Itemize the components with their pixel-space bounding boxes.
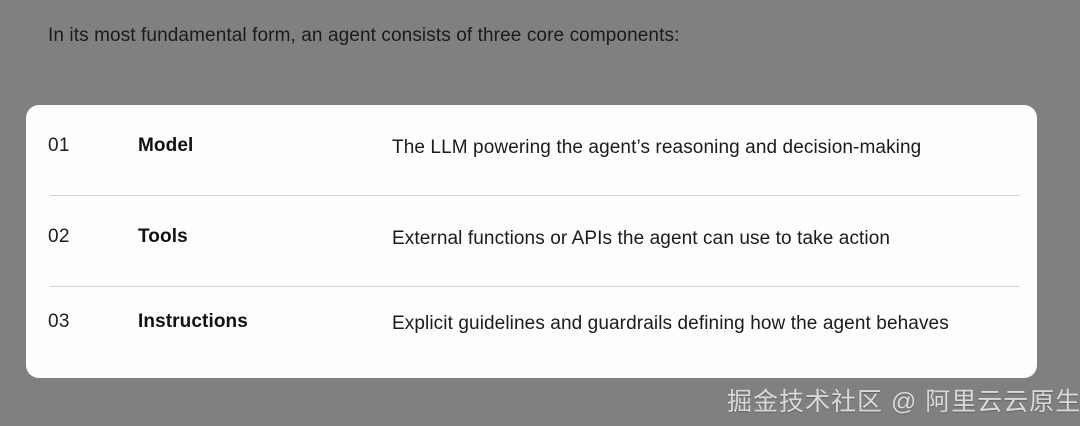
row-content: 01 Model The LLM powering the agent’s re… (48, 105, 1015, 163)
intro-paragraph: In its most fundamental form, an agent c… (48, 23, 679, 49)
row-description: The LLM powering the agent’s reasoning a… (392, 133, 1015, 163)
row-content: 03 Instructions Explicit guidelines and … (48, 287, 1015, 339)
row-description: External functions or APIs the agent can… (392, 224, 1015, 254)
row-number: 02 (48, 224, 138, 250)
row-number: 03 (48, 309, 138, 335)
row-content: 02 Tools External functions or APIs the … (48, 196, 1015, 254)
list-item: 03 Instructions Explicit guidelines and … (26, 287, 1037, 378)
components-card: 01 Model The LLM powering the agent’s re… (26, 105, 1037, 378)
row-description: Explicit guidelines and guardrails defin… (392, 309, 1015, 339)
row-number: 01 (48, 133, 138, 159)
row-title: Model (138, 133, 392, 159)
row-title: Instructions (138, 309, 392, 335)
list-item: 02 Tools External functions or APIs the … (26, 196, 1037, 287)
watermark: 掘金技术社区 @ 阿里云云原生 (727, 386, 1080, 419)
row-title: Tools (138, 224, 392, 250)
list-item: 01 Model The LLM powering the agent’s re… (26, 105, 1037, 196)
components-list: 01 Model The LLM powering the agent’s re… (26, 105, 1037, 378)
